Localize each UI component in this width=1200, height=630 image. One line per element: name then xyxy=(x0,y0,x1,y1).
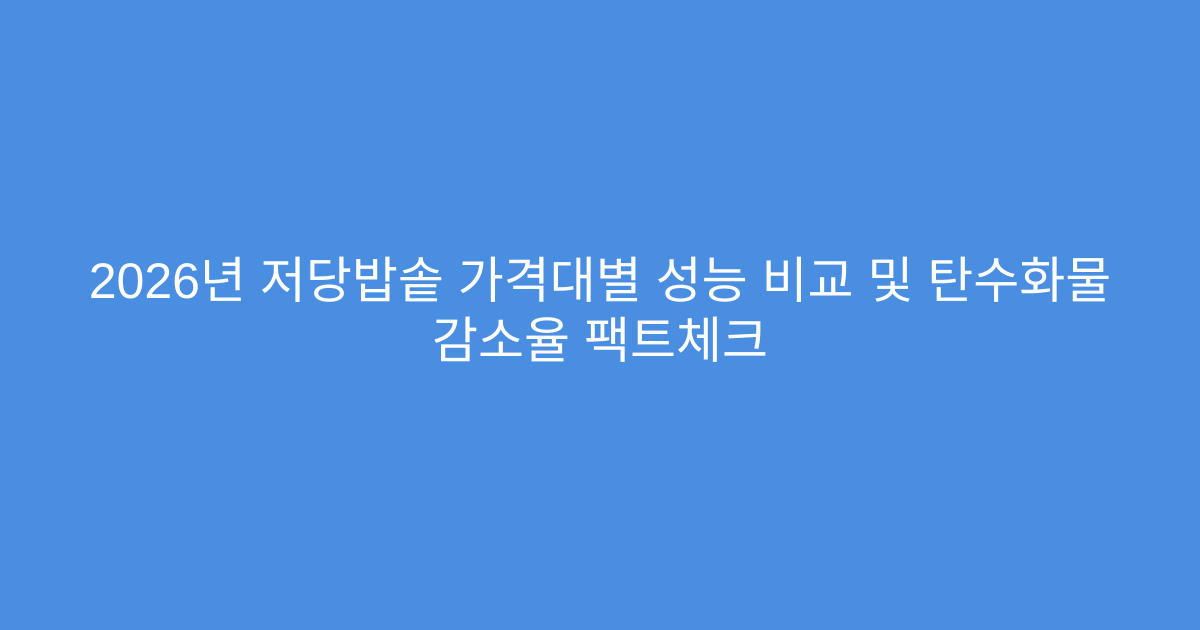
cover-card: 2026년 저당밥솥 가격대별 성능 비교 및 탄수화물 감소율 팩트체크 xyxy=(0,0,1200,630)
page-title: 2026년 저당밥솥 가격대별 성능 비교 및 탄수화물 감소율 팩트체크 xyxy=(75,251,1125,371)
title-block: 2026년 저당밥솥 가격대별 성능 비교 및 탄수화물 감소율 팩트체크 xyxy=(65,251,1135,371)
